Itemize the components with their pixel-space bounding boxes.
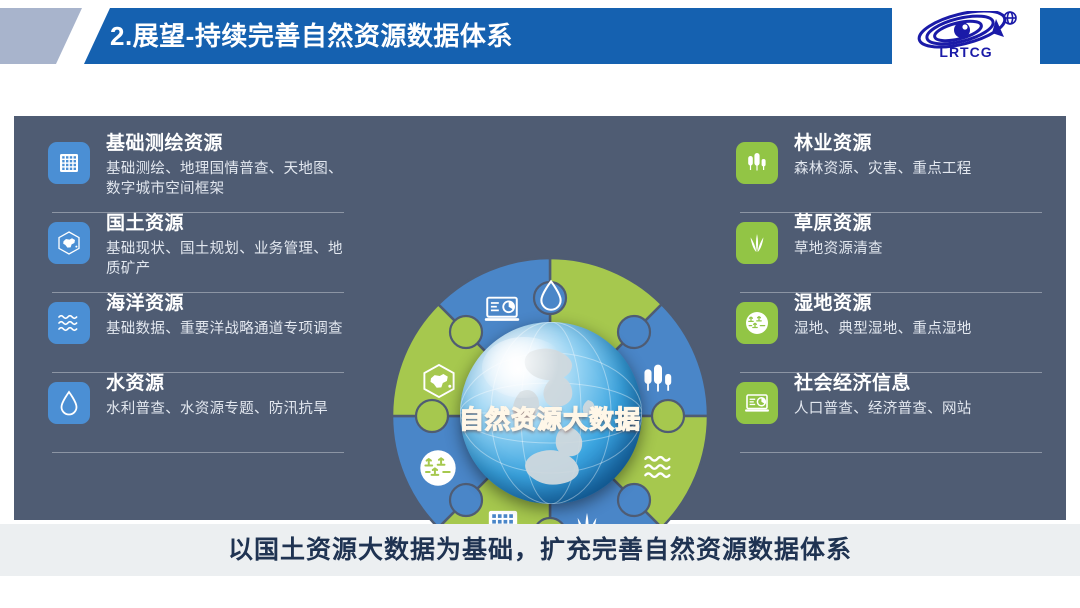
item-description: 基础数据、重要洋战略通道专项调查 — [106, 319, 344, 339]
list-item[interactable]: 基础测绘资源 基础测绘、地理国情普查、天地图、数字城市空间框架 — [44, 132, 344, 210]
china-map-hexagon-icon — [420, 362, 458, 400]
item-title: 湿地资源 — [794, 292, 1042, 316]
list-item[interactable]: 水资源 水利普查、水资源专题、防汛抗旱 — [44, 372, 344, 450]
page-title: 2.展望-持续完善自然资源数据体系 — [110, 8, 513, 64]
water-drop-icon — [534, 278, 568, 312]
item-description: 基础测绘、地理国情普查、天地图、数字城市空间框架 — [106, 159, 344, 199]
wetland-icon — [736, 302, 778, 344]
list-item[interactable]: 国土资源 基础现状、国土规划、业务管理、地质矿产 — [44, 212, 344, 290]
grid-table-icon — [48, 142, 90, 184]
wetland-icon — [418, 448, 458, 488]
china-map-hexagon-icon — [48, 222, 90, 264]
waves-icon — [48, 302, 90, 344]
item-title: 海洋资源 — [106, 292, 344, 316]
item-description: 草地资源清查 — [794, 239, 1042, 259]
item-title: 国土资源 — [106, 212, 344, 236]
list-item[interactable]: 社会经济信息 人口普查、经济普查、网站 — [732, 372, 1042, 450]
lrtcg-swirl-logo: LRTCG — [900, 11, 1032, 63]
center-label: 自然资源大数据 — [386, 400, 714, 436]
slide-root: 2.展望-持续完善自然资源数据体系 LRTCG — [0, 0, 1080, 608]
item-title: 水资源 — [106, 372, 344, 396]
trees-icon — [638, 360, 678, 400]
header-right-block — [1040, 8, 1080, 64]
grass-icon — [736, 222, 778, 264]
list-item[interactable]: 林业资源 森林资源、灾害、重点工程 — [732, 132, 1042, 210]
item-description: 人口普查、经济普查、网站 — [794, 399, 1042, 419]
laptop-chart-icon — [736, 382, 778, 424]
item-description: 森林资源、灾害、重点工程 — [794, 159, 1042, 179]
list-item[interactable]: 草原资源 草地资源清查 — [732, 212, 1042, 290]
trees-icon — [736, 142, 778, 184]
slide-header: 2.展望-持续完善自然资源数据体系 LRTCG — [0, 8, 1080, 64]
list-item[interactable]: 海洋资源 基础数据、重要洋战略通道专项调查 — [44, 292, 344, 370]
globe-highlight — [482, 337, 566, 399]
item-description: 湿地、典型湿地、重点湿地 — [794, 319, 1042, 339]
header-accent-shape — [0, 8, 92, 64]
water-drop-icon — [48, 382, 90, 424]
left-resource-column: 基础测绘资源 基础测绘、地理国情普查、天地图、数字城市空间框架 国土资源 基础现… — [44, 132, 344, 452]
item-title: 草原资源 — [794, 212, 1042, 236]
content-panel: 基础测绘资源 基础测绘、地理国情普查、天地图、数字城市空间框架 国土资源 基础现… — [14, 116, 1066, 520]
logo-wordmark: LRTCG — [900, 44, 1032, 60]
right-resource-column: 林业资源 森林资源、灾害、重点工程 草 — [732, 132, 1042, 452]
item-description: 基础现状、国土规划、业务管理、地质矿产 — [106, 239, 344, 279]
footer-spacer — [0, 576, 1080, 608]
item-title: 基础测绘资源 — [106, 132, 344, 156]
item-description: 水利普查、水资源专题、防汛抗旱 — [106, 399, 344, 419]
item-divider — [740, 452, 1042, 453]
waves-icon — [640, 452, 678, 482]
item-divider — [52, 452, 344, 453]
list-item[interactable]: 湿地资源 湿地、典型湿地、重点湿地 — [732, 292, 1042, 370]
summary-caption: 以国土资源大数据为基础，扩充完善自然资源数据体系 — [0, 524, 1080, 576]
item-title: 林业资源 — [794, 132, 1042, 156]
item-title: 社会经济信息 — [794, 372, 1042, 396]
